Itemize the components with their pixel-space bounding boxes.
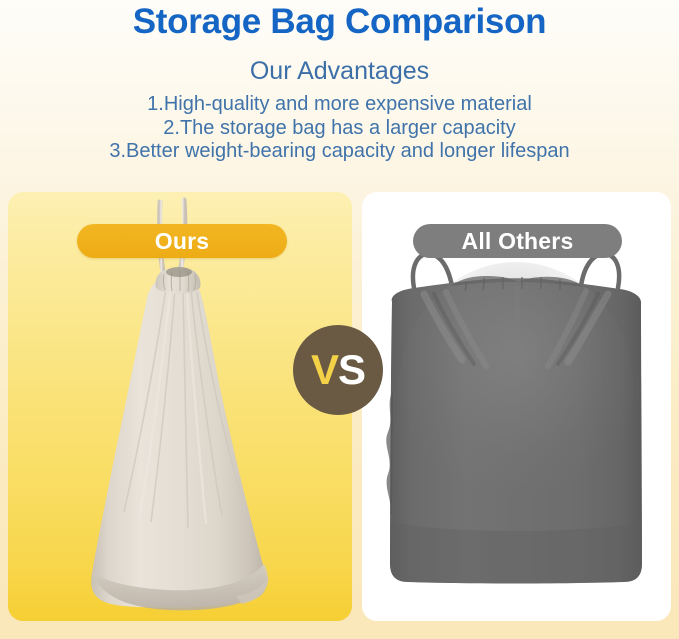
page-subtitle: Our Advantages — [0, 55, 679, 87]
bag-body — [91, 274, 266, 608]
advantage-item-2: 2.The storage bag has a larger capacity — [0, 117, 679, 141]
advantage-item-3: 3.Better weight-bearing capacity and lon… — [0, 140, 679, 164]
bag-lower-shading — [390, 522, 642, 584]
page-title: Storage Bag Comparison — [0, 1, 679, 43]
vs-letter-v: V — [311, 346, 338, 393]
drawstring-loop-left — [413, 254, 452, 288]
panel-ours: DOREIMI Ours — [8, 192, 352, 621]
bag-opening — [166, 267, 192, 277]
drawstring-loop-right — [581, 254, 619, 288]
comparison-infographic: Storage Bag Comparison Our Advantages 1.… — [0, 0, 679, 639]
advantages-list: 1.High-quality and more expensive materi… — [0, 93, 679, 164]
header-section: Storage Bag Comparison Our Advantages 1.… — [0, 0, 679, 182]
vs-badge: VS — [293, 325, 383, 415]
badge-ours[interactable]: Ours — [77, 224, 287, 258]
vs-letter-s: S — [338, 346, 365, 393]
panel-all-others: All Others — [362, 192, 671, 621]
badge-all-others[interactable]: All Others — [413, 224, 622, 258]
advantage-item-1: 1.High-quality and more expensive materi… — [0, 93, 679, 117]
bag-edge-crinkle — [386, 392, 393, 514]
